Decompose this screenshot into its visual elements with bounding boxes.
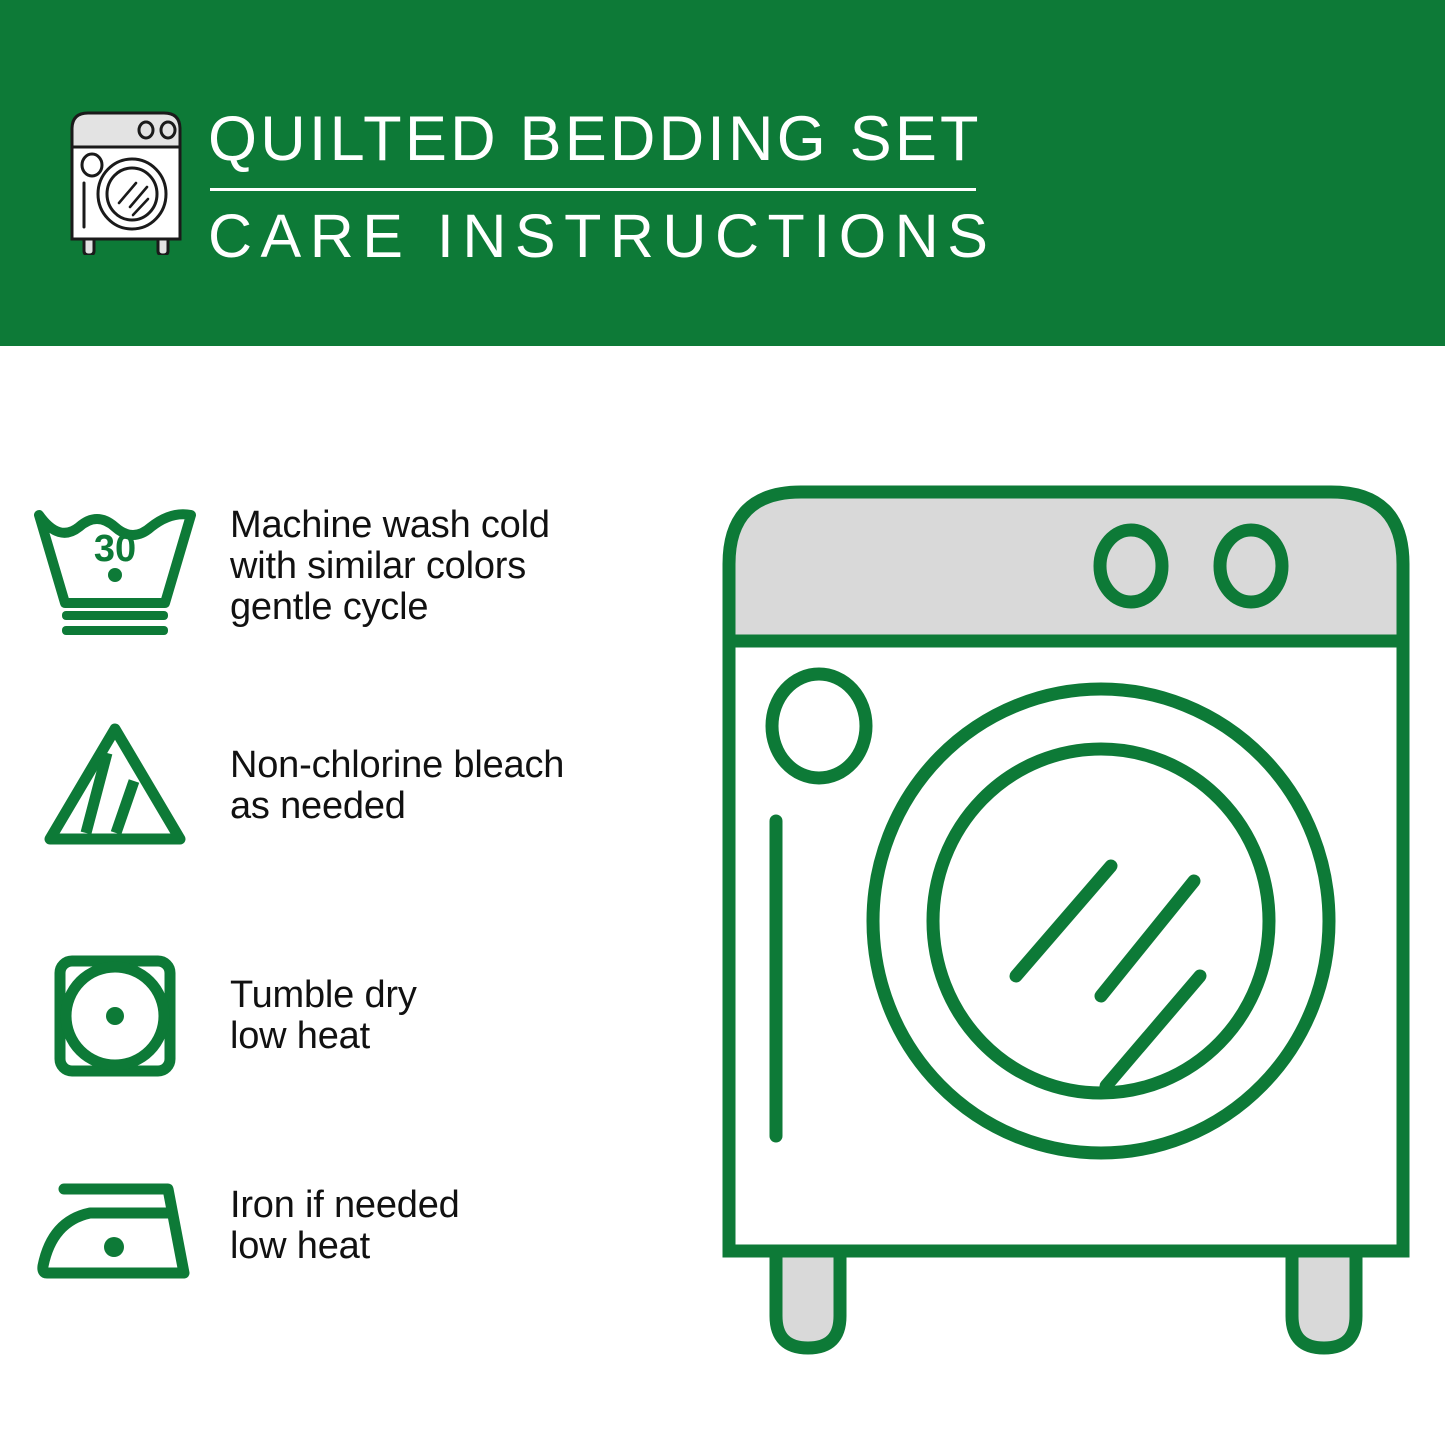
machine-leg: [1292, 1251, 1356, 1348]
care-line: low heat: [230, 1226, 700, 1267]
care-label-tumble-dry: Tumble dry low heat: [230, 975, 700, 1057]
wash-temperature-label: 30: [94, 528, 136, 570]
page-subtitle: CARE INSTRUCTIONS: [208, 201, 998, 271]
machine-leg: [776, 1251, 840, 1348]
dispenser-indicator: [772, 674, 866, 778]
front-load-washing-machine-illustration: [716, 476, 1416, 1366]
care-line: as needed: [230, 786, 700, 827]
care-label-iron: Iron if needed low heat: [230, 1185, 700, 1267]
care-label-bleach: Non-chlorine bleach as needed: [230, 745, 700, 827]
control-knob: [1100, 530, 1162, 602]
care-line: Iron if needed: [230, 1185, 700, 1226]
non-chlorine-bleach-triangle-icon: [0, 711, 230, 861]
iron-low-heat-icon: [0, 1161, 230, 1291]
care-line: Non-chlorine bleach: [230, 745, 700, 786]
care-row-machine-wash: 30 Machine wash cold with similar colors…: [0, 466, 700, 666]
title-divider: [210, 188, 976, 191]
care-instructions-list: 30 Machine wash cold with similar colors…: [0, 346, 700, 1445]
care-row-bleach: Non-chlorine bleach as needed: [0, 696, 700, 876]
care-row-iron: Iron if needed low heat: [0, 1136, 700, 1316]
care-line: with similar colors: [230, 546, 700, 587]
care-line: low heat: [230, 1016, 700, 1057]
page-title: QUILTED BEDDING SET: [208, 104, 998, 174]
wash-tub-30-gentle-icon: 30: [0, 491, 230, 641]
tumble-dry-low-heat-icon: [0, 941, 230, 1091]
control-knob: [1220, 530, 1282, 602]
care-row-tumble-dry: Tumble dry low heat: [0, 926, 700, 1106]
care-line: Machine wash cold: [230, 505, 700, 546]
control-panel: [729, 492, 1403, 641]
care-line: Tumble dry: [230, 975, 700, 1016]
washing-machine-logo-icon: [62, 103, 190, 255]
header-title-block: QUILTED BEDDING SET CARE INSTRUCTIONS: [208, 104, 998, 271]
care-line: gentle cycle: [230, 587, 700, 628]
care-instructions-infographic: QUILTED BEDDING SET CARE INSTRUCTIONS 30…: [0, 0, 1445, 1445]
care-label-machine-wash: Machine wash cold with similar colors ge…: [230, 505, 700, 628]
header-banner: QUILTED BEDDING SET CARE INSTRUCTIONS: [0, 0, 1445, 346]
